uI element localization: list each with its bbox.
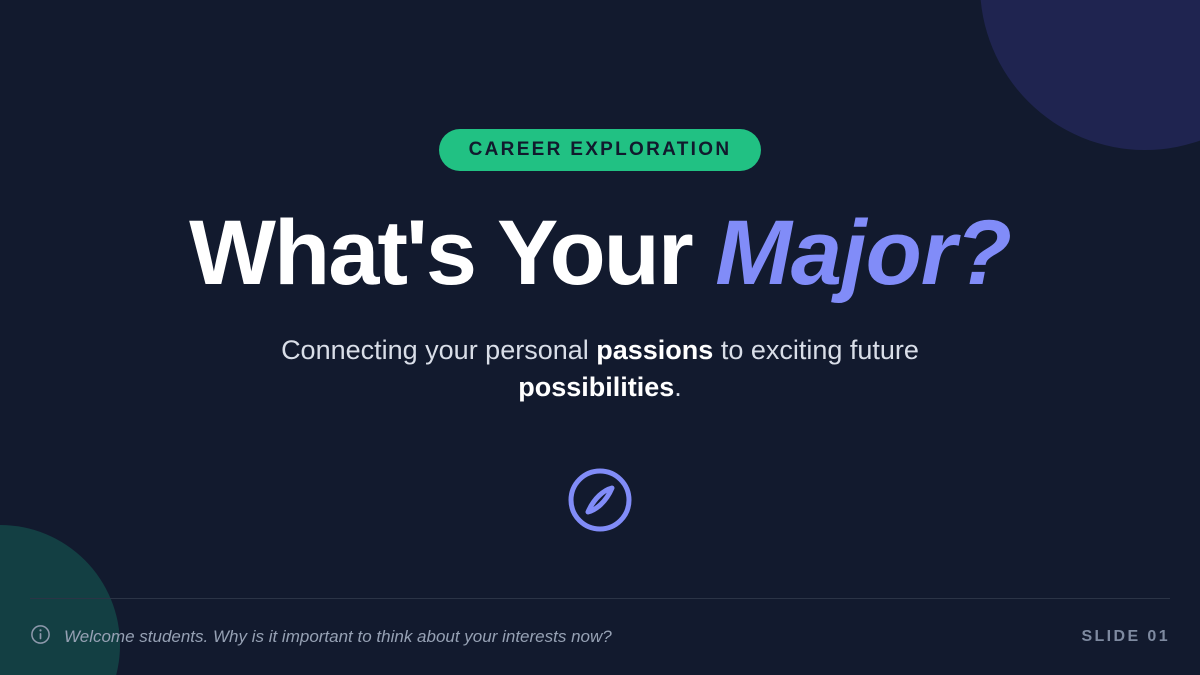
page-subtitle: Connecting your personal passions to exc… (220, 332, 980, 407)
section-badge: CAREER EXPLORATION (439, 129, 762, 171)
subtitle-bold-passions: passions (596, 335, 713, 365)
speaker-note: Welcome students. Why is it important to… (30, 624, 612, 650)
speaker-note-text: Welcome students. Why is it important to… (64, 628, 612, 645)
slide-number: SLIDE 01 (1081, 629, 1170, 645)
page-title-accent: Major? (715, 202, 1011, 304)
subtitle-part-1: Connecting your personal (281, 335, 596, 365)
subtitle-bold-possibilities: possibilities (518, 372, 674, 402)
subtitle-part-3: . (674, 372, 682, 402)
info-circle-icon (30, 624, 51, 650)
slide-content: CAREER EXPLORATION What's Your Major? Co… (0, 0, 1200, 598)
slide-canvas: CAREER EXPLORATION What's Your Major? Co… (0, 0, 1200, 675)
page-title-lead: What's Your (189, 202, 692, 304)
subtitle-part-2: to exciting future (713, 335, 919, 365)
slide-footer: Welcome students. Why is it important to… (0, 598, 1200, 675)
compass-icon (563, 463, 637, 537)
page-title: What's Your Major? (189, 207, 1011, 299)
